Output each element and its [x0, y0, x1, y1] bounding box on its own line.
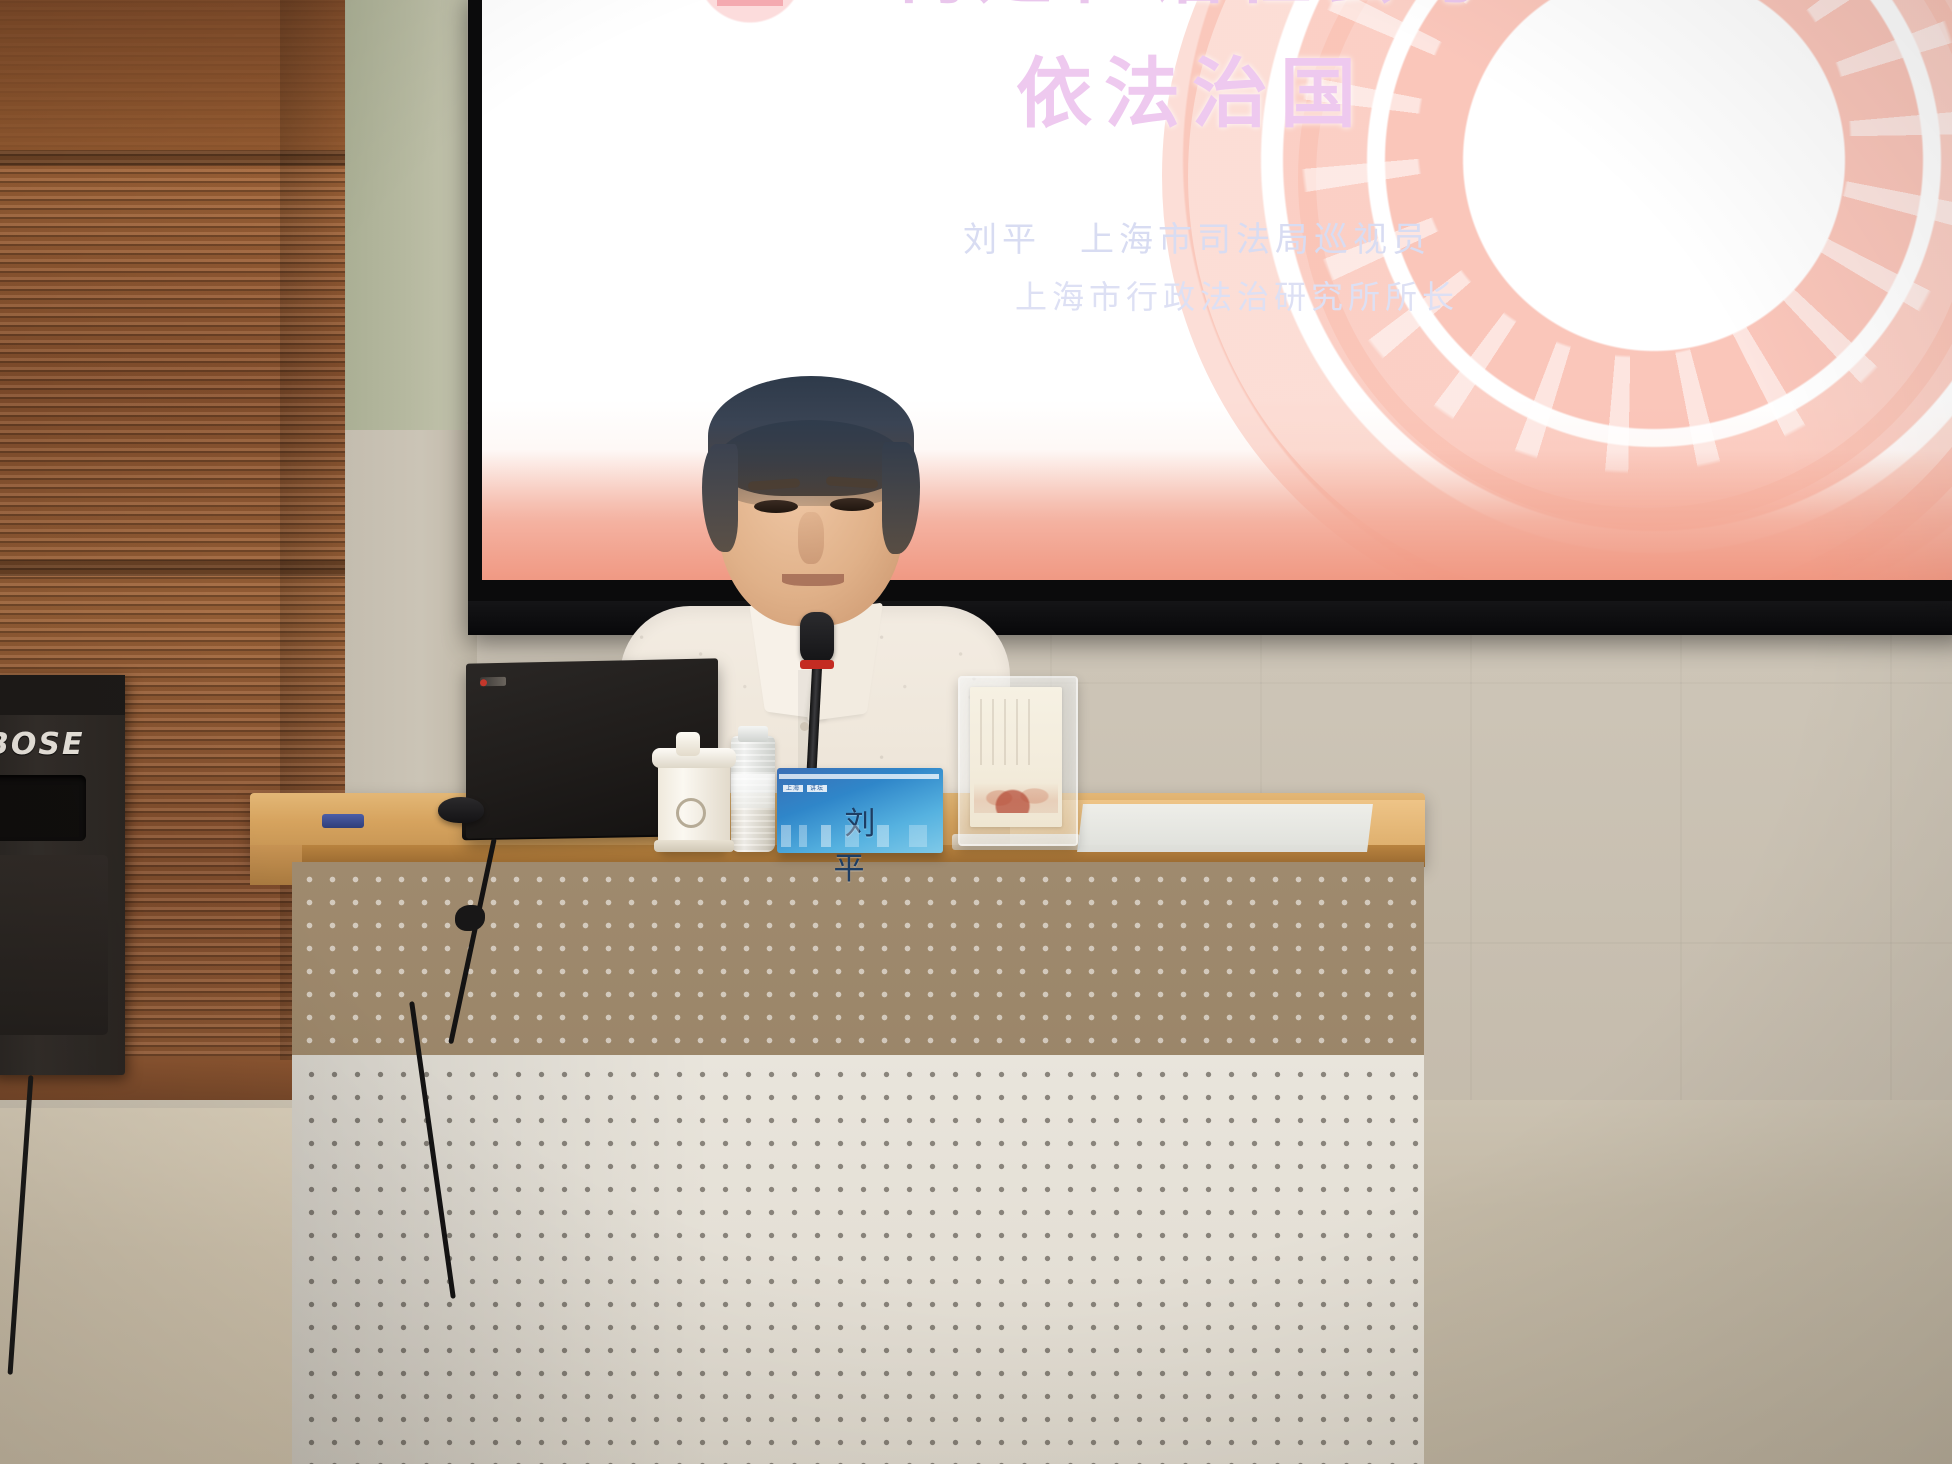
person-nose: [798, 512, 824, 564]
bottle-cap: [738, 726, 768, 742]
name-plate-tag-right: 讲坛: [807, 785, 827, 792]
name-plate: 上海讲坛 刘 平: [777, 768, 943, 853]
lecture-hall-photo: 构建和谐社会与 依法治国 刘平 上海市司法局巡视员 上海市行政法治研究所所长 B…: [0, 0, 1952, 1464]
name-plate-skyline-graphic: [781, 825, 939, 847]
paper-sheet: [1077, 804, 1373, 852]
person-hair-right: [882, 442, 920, 554]
speaker-bass-port: [0, 775, 86, 841]
slide-subtitle-line-1: 刘平 上海市司法局巡视员: [782, 212, 1612, 261]
shirt-button: [800, 722, 809, 731]
speaker-cabinet: [0, 855, 108, 1035]
name-plate-top-strip: [779, 774, 939, 779]
tea-cup-saucer: [654, 840, 734, 852]
person-hair-left: [702, 444, 738, 552]
slide-subtitle-line-2: 上海市行政法治研究所所长: [822, 272, 1652, 318]
name-plate-tag-left: 上海: [783, 785, 803, 792]
floor-left-area: [0, 1108, 300, 1464]
tea-cup-knob: [676, 732, 700, 756]
red-crest-emblem-icon: [695, 0, 805, 30]
decor-highlight-oval: [1644, 20, 1794, 205]
display-card-artwork: [970, 687, 1062, 827]
name-plate-tagline: 上海讲坛: [783, 783, 831, 792]
person-eye-right: [830, 498, 874, 511]
person-mouth: [782, 574, 844, 586]
speaker-top-panel: [0, 675, 125, 715]
green-pillar-strip: [337, 0, 467, 470]
slide-title-line-2: 依法治国: [812, 32, 1572, 142]
acrylic-card-stand: [958, 676, 1078, 846]
bose-brand-label: BOSE: [0, 727, 84, 762]
microphone-icon: [800, 612, 834, 664]
cable-clip: [455, 905, 485, 931]
podium-panel-shadow: [292, 1055, 712, 1464]
microphone-red-ring: [800, 660, 834, 669]
computer-mouse-icon[interactable]: [438, 797, 484, 823]
bottle-label: [731, 774, 775, 808]
bose-loudspeaker: BOSE: [0, 675, 125, 1075]
person-eye-left: [754, 500, 798, 513]
tea-cup-emblem-icon: [676, 798, 706, 828]
slide-title-line-1: 构建和谐社会与: [812, 0, 1572, 18]
display-card-vertical-text: [980, 699, 1038, 765]
usb-flash-drive-icon[interactable]: [322, 814, 364, 828]
